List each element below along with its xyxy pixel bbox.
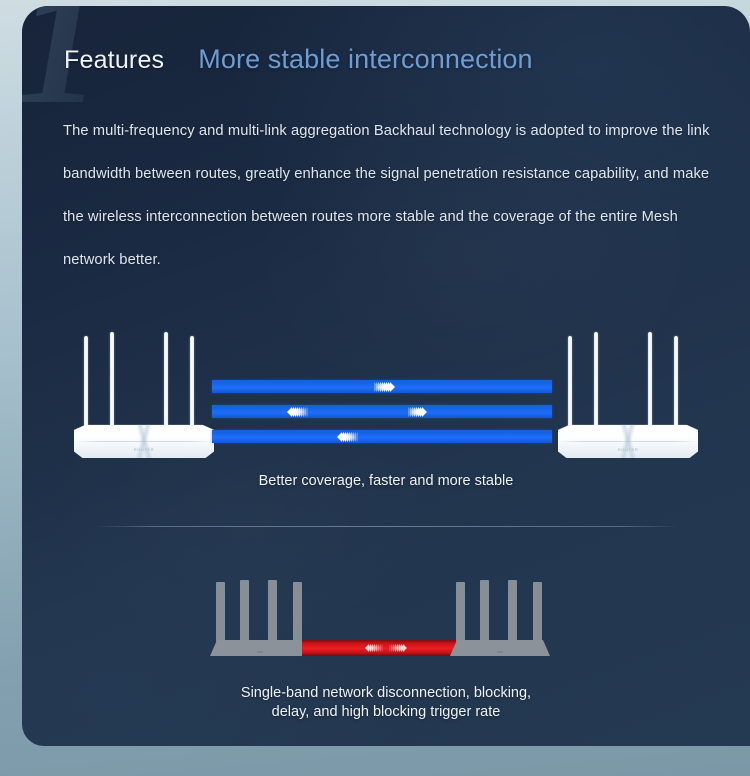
- multi-band-caption: Better coverage, faster and more stable: [22, 472, 750, 491]
- arrow-group-right: [374, 380, 392, 393]
- antenna-icon: [164, 332, 168, 428]
- status-led-icon: [258, 651, 263, 653]
- router-body: [210, 640, 310, 656]
- router-body: [450, 640, 550, 656]
- antenna-icon: [648, 332, 652, 428]
- status-led-icon: [498, 651, 503, 653]
- arrow-group-left: [290, 405, 308, 418]
- caption-line-1: Single-band network disconnection, block…: [241, 685, 531, 701]
- link-band-2: [212, 405, 552, 418]
- section-divider: [96, 526, 679, 527]
- router-gray-right: [450, 578, 550, 656]
- failing-link-band: [302, 640, 470, 656]
- router-white-right: ROUTER: [558, 328, 698, 458]
- single-band-caption: Single-band network disconnection, block…: [22, 684, 750, 722]
- antenna-icon: [533, 582, 542, 642]
- antenna-icon: [216, 582, 225, 642]
- page-frame: 1 Features More stable interconnection T…: [0, 0, 750, 776]
- multi-band-diagram: ROUTER: [22, 328, 750, 503]
- router-body: ROUTER: [74, 422, 214, 458]
- router-gray-left: [210, 578, 310, 656]
- antenna-icon: [84, 336, 88, 428]
- feature-description: The multi-frequency and multi-link aggre…: [63, 110, 727, 282]
- antenna-icon: [568, 336, 572, 428]
- page-title: More stable interconnection: [198, 44, 532, 75]
- antenna-icon: [268, 580, 277, 642]
- features-label: Features: [64, 46, 164, 75]
- antenna-icon: [190, 336, 194, 428]
- antenna-icon: [594, 332, 598, 428]
- antenna-icon: [508, 580, 517, 642]
- arrow-group-right: [408, 405, 424, 418]
- antenna-icon: [674, 336, 678, 428]
- router-brand-label: ROUTER: [618, 447, 639, 452]
- caption-line-2: delay, and high blocking trigger rate: [22, 703, 750, 722]
- router-white-left: ROUTER: [74, 328, 214, 458]
- link-bands-group: [212, 380, 552, 448]
- arrow-group-left: [340, 430, 358, 443]
- multi-band-stage: ROUTER: [22, 328, 750, 458]
- antenna-icon: [456, 582, 465, 642]
- arrow-wrap: [302, 640, 470, 656]
- panel-header: Features More stable interconnection: [64, 44, 533, 75]
- arrow-group-left: [367, 644, 383, 652]
- antenna-icon: [293, 582, 302, 642]
- single-band-stage: [22, 578, 750, 656]
- antenna-icon: [480, 580, 489, 642]
- router-body: ROUTER: [558, 422, 698, 458]
- router-brand-label: ROUTER: [134, 447, 155, 452]
- antenna-icon: [110, 332, 114, 428]
- feature-panel: 1 Features More stable interconnection T…: [22, 6, 750, 746]
- link-band-3: [212, 430, 552, 443]
- link-band-1: [212, 380, 552, 393]
- single-band-diagram: Single-band network disconnection, block…: [22, 578, 750, 722]
- antenna-icon: [240, 580, 249, 642]
- arrow-group-right: [389, 644, 405, 652]
